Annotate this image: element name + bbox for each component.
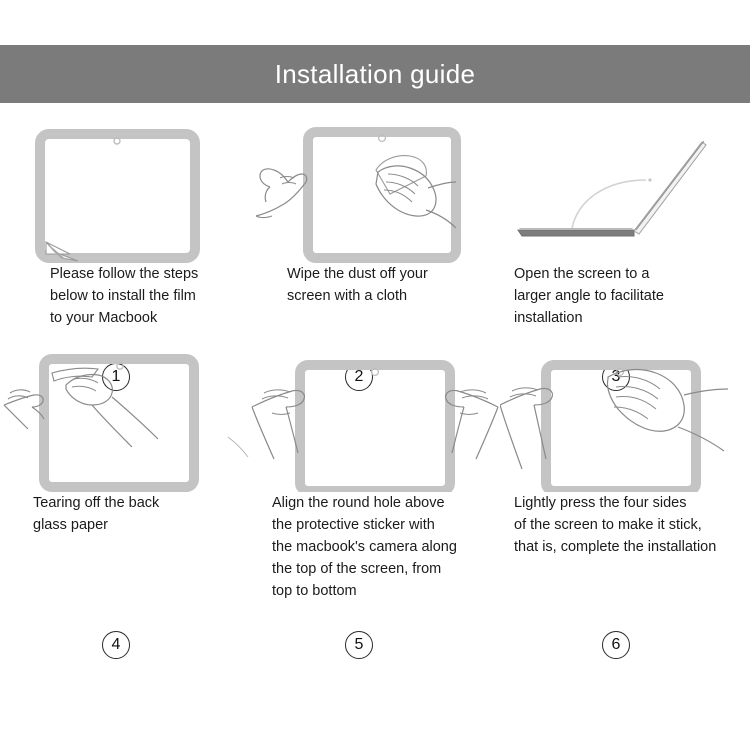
step-1-caption: Please follow the steps below to install… [50, 263, 250, 341]
step-number-4: 4 [102, 631, 130, 659]
step-2-caption: Wipe the dust off your screen with a clo… [287, 263, 500, 341]
step-cell-1: Please follow the steps below to install… [0, 118, 250, 341]
hands-tearing-backing-paper-icon [0, 347, 250, 492]
step-number-6: 6 [602, 631, 630, 659]
steps-grid: Please follow the steps below to install… [0, 118, 750, 604]
step-cell-5: Align the round hole above the protectiv… [250, 347, 500, 604]
step-6-caption: Lightly press the four sides of the scre… [514, 492, 750, 604]
step-2-illustration [250, 118, 500, 263]
header-banner: Installation guide [0, 45, 750, 103]
step-5-caption: Align the round hole above the protectiv… [272, 492, 500, 604]
step-6-illustration [500, 347, 750, 492]
step-5-illustration [250, 347, 500, 492]
tablet-with-peeling-film-corner-icon [0, 118, 250, 263]
steps-row-bottom: Tearing off the back glass paper 4 [0, 347, 750, 604]
step-4-illustration [0, 347, 250, 492]
step-4-caption: Tearing off the back glass paper [33, 492, 250, 604]
hand-wiping-screen-with-cloth-icon [250, 118, 500, 263]
steps-row-top: Please follow the steps below to install… [0, 118, 750, 341]
step-cell-2: Wipe the dust off your screen with a clo… [250, 118, 500, 341]
step-cell-6: Lightly press the four sides of the scre… [500, 347, 750, 604]
step-cell-3: Open the screen to a larger angle to fac… [500, 118, 750, 341]
step-cell-4: Tearing off the back glass paper 4 [0, 347, 250, 604]
step-1-illustration [0, 118, 250, 263]
laptop-opening-screen-angle-icon [500, 118, 750, 263]
two-hands-aligning-film-icon [250, 347, 500, 492]
page-title: Installation guide [275, 59, 476, 90]
hand-pressing-screen-edges-icon [500, 347, 750, 492]
step-3-caption: Open the screen to a larger angle to fac… [514, 263, 750, 341]
step-number-5: 5 [345, 631, 373, 659]
step-3-illustration [500, 118, 750, 263]
installation-guide-page: Installation guide Please follow the ste… [0, 0, 750, 750]
